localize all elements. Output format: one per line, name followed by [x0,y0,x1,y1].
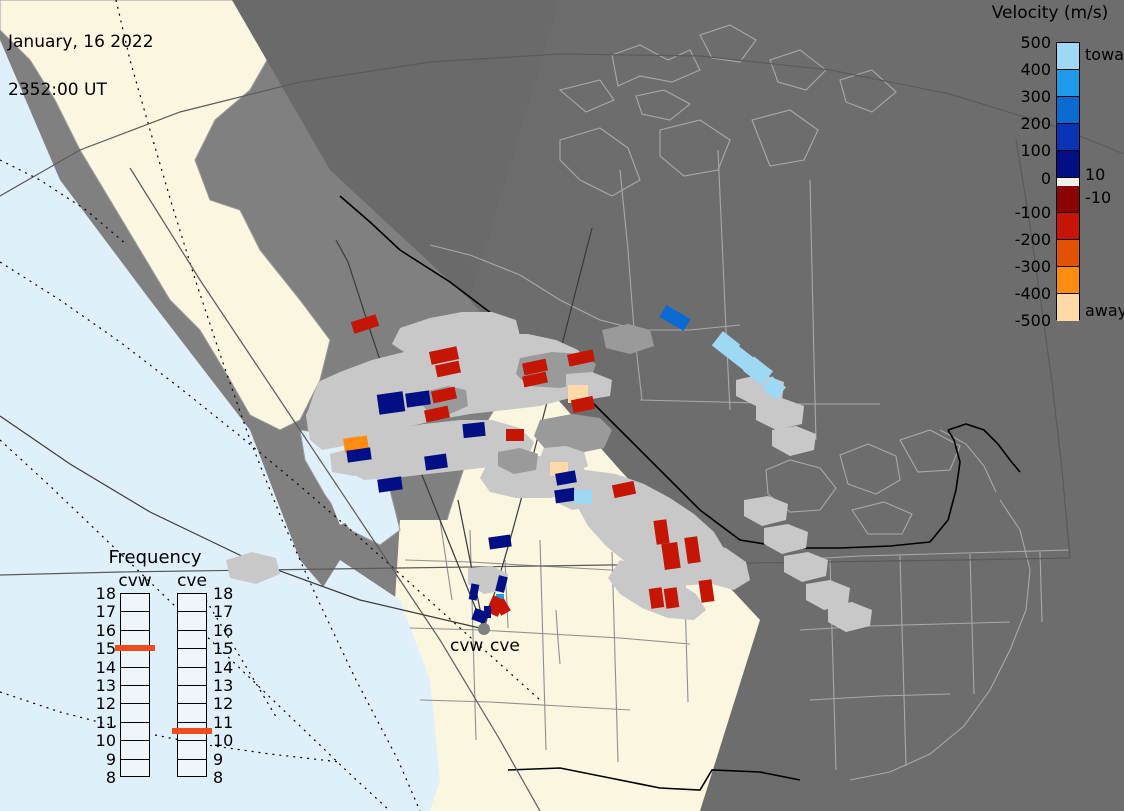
radar-map-figure: January, 16 2022 2352:00 UT cvwcve Veloc… [0,0,1124,811]
timestamp: January, 16 2022 2352:00 UT [8,2,154,130]
velocity-band-350 [1057,70,1079,97]
frequency-gauge-cell [178,704,206,722]
frequency-tick-cvw-9: 9 [90,750,116,769]
velocity-tick--200: -200 [985,230,1051,249]
frequency-gauge-cell [121,704,149,722]
velocity-tick--100: -100 [985,203,1051,222]
velocity-tick-100: 100 [985,141,1051,160]
velocity-zero-lower-label: -10 [1085,188,1111,207]
frequency-tick-cvw-10: 10 [90,731,116,750]
frequency-gauge-cell [178,741,206,759]
frequency-marker-cve [172,728,212,734]
velocity-band--50 [1057,186,1079,213]
velocity-band--250 [1057,240,1079,267]
frequency-tick-cve-8: 8 [213,768,223,787]
frequency-tick-cve-17: 17 [213,602,233,621]
timestamp-date: January, 16 2022 [8,34,154,50]
frequency-marker-cvw [115,645,155,651]
frequency-tick-cvw-16: 16 [90,621,116,640]
velocity-cell [506,429,524,441]
frequency-gauge-cell [121,612,149,630]
velocity-cell [377,391,406,414]
frequency-gauge-cell [178,612,206,630]
map-site-label-cvw: cvw [450,636,483,656]
frequency-gauge-cell [178,594,206,612]
velocity-band--350 [1057,267,1079,294]
velocity-band-50 [1057,151,1079,178]
velocity-band-250 [1057,97,1079,124]
velocity-toward-label: toward [1085,45,1124,64]
frequency-tick-cve-18: 18 [213,584,233,603]
timestamp-time: 2352:00 UT [8,82,154,98]
frequency-tick-cve-14: 14 [213,658,233,677]
frequency-tick-cve-11: 11 [213,713,233,732]
frequency-gauge-box-cvw [120,593,150,777]
frequency-gauge-cell [121,686,149,704]
velocity-band--150 [1057,213,1079,240]
frequency-legend: Frequency cvw18171615141312111098cve1817… [80,545,245,795]
velocity-cell [664,587,680,609]
frequency-gauge-cell [121,723,149,741]
frequency-gauge-cell [178,760,206,778]
frequency-gauge-cell [178,631,206,649]
frequency-tick-cve-15: 15 [213,639,233,658]
frequency-gauge-cell [178,686,206,704]
velocity-zero-upper-label: 10 [1085,165,1105,184]
velocity-tick--300: -300 [985,257,1051,276]
velocity-tick-300: 300 [985,87,1051,106]
frequency-tick-cve-13: 13 [213,676,233,695]
frequency-tick-cvw-14: 14 [90,658,116,677]
frequency-gauge-cell [178,649,206,667]
velocity-tick-500: 500 [985,33,1051,52]
frequency-gauge-cell [121,594,149,612]
frequency-tick-cvw-15: 15 [90,639,116,658]
frequency-gauge-cell [178,668,206,686]
velocity-cell [462,422,485,438]
frequency-tick-cve-10: 10 [213,731,233,750]
velocity-cell [574,490,592,504]
velocity-cell [649,587,665,609]
frequency-tick-cvw-18: 18 [90,584,116,603]
velocity-band-450 [1057,43,1079,70]
frequency-tick-cve-16: 16 [213,621,233,640]
frequency-tick-cvw-12: 12 [90,694,116,713]
velocity-band--450 [1057,294,1079,321]
velocity-tick--500: -500 [985,311,1051,330]
velocity-cell [484,606,491,618]
frequency-gauge-cell [121,649,149,667]
velocity-legend: Velocity (m/s) 5004003002001000-100-200-… [975,0,1124,340]
velocity-cell [554,488,576,504]
frequency-tick-cve-12: 12 [213,694,233,713]
map-site-label-cve: cve [490,636,520,656]
velocity-tick-0: 0 [985,169,1051,188]
velocity-tick--400: -400 [985,284,1051,303]
frequency-tick-cve-9: 9 [213,750,223,769]
frequency-gauge-cell [121,760,149,778]
frequency-tick-cvw-11: 11 [90,713,116,732]
frequency-gauge-box-cve [177,593,207,777]
velocity-tick-400: 400 [985,60,1051,79]
velocity-tick-200: 200 [985,114,1051,133]
radar-site-dot [478,623,490,635]
velocity-band-150 [1057,124,1079,151]
velocity-zero-band [1056,178,1080,185]
frequency-tick-cvw-8: 8 [90,768,116,787]
velocity-legend-title: Velocity (m/s) [980,3,1120,23]
frequency-legend-title: Frequency [80,547,230,568]
frequency-gauge-cell [121,741,149,759]
frequency-tick-cvw-13: 13 [90,676,116,695]
frequency-tick-cvw-17: 17 [90,602,116,621]
velocity-away-label: away [1085,301,1124,320]
frequency-gauge-cell [121,668,149,686]
